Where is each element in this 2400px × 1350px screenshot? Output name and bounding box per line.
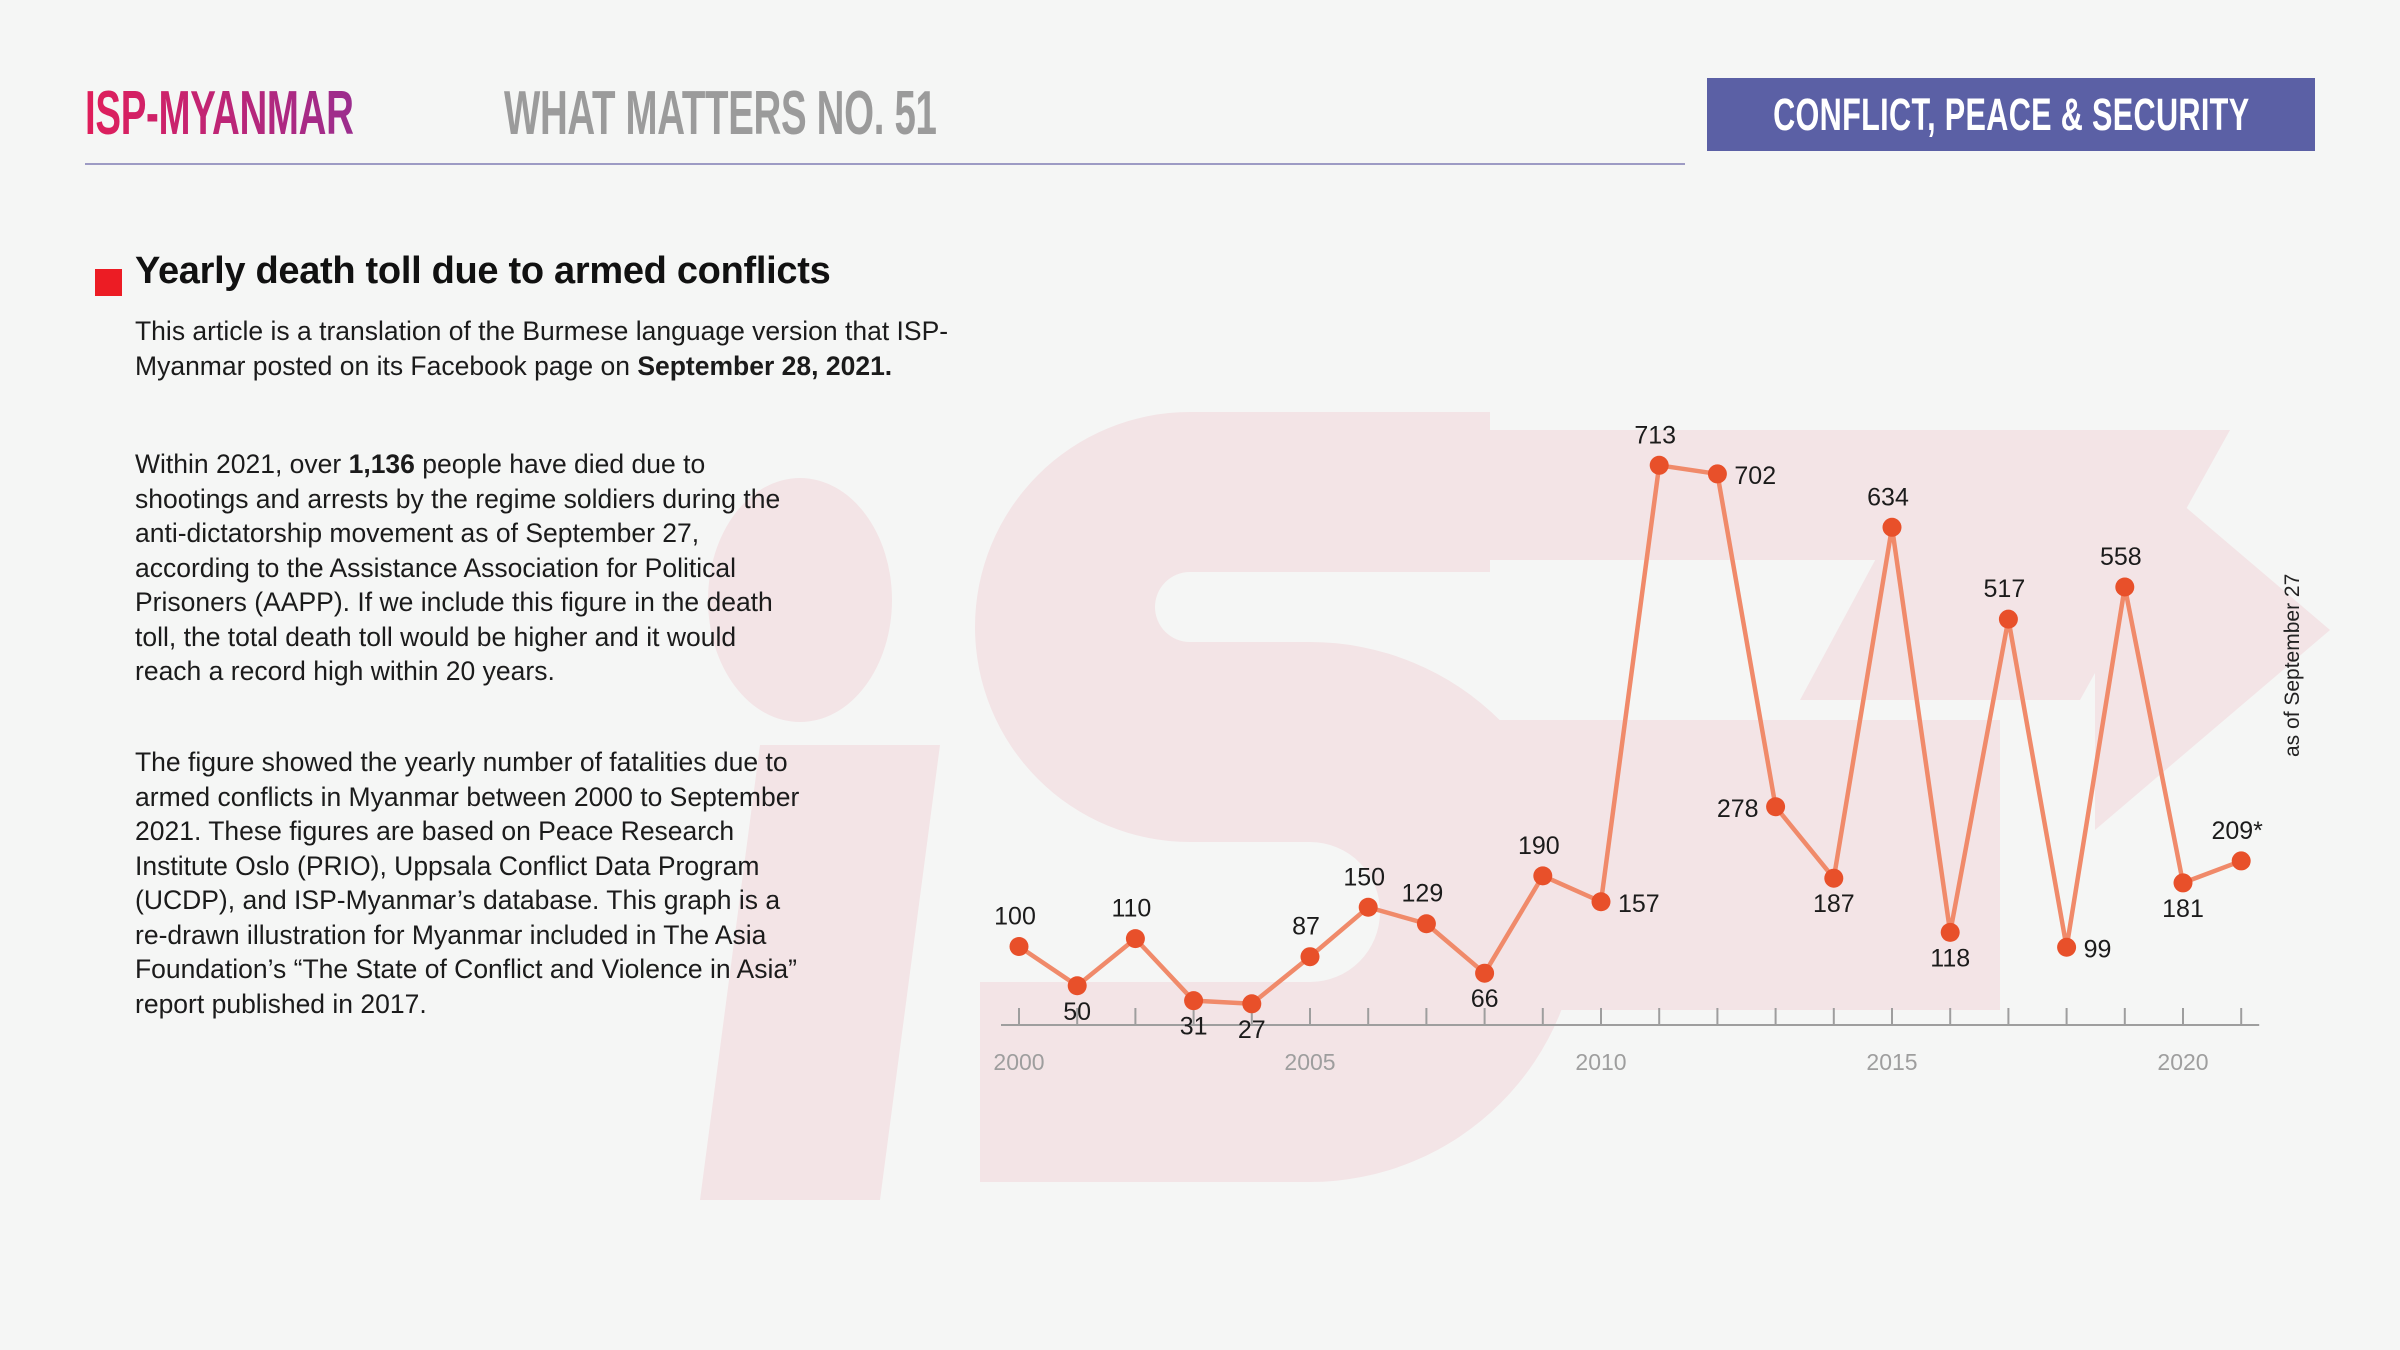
- data-point-2017: [1999, 610, 2018, 629]
- data-point-2006: [1359, 898, 1378, 917]
- data-point-2014: [1824, 869, 1843, 888]
- value-label-2005: 87: [1292, 913, 1320, 941]
- data-point-2018: [2057, 938, 2076, 957]
- series-line: [1019, 465, 2241, 1004]
- data-point-2015: [1883, 518, 1902, 537]
- value-label-2001: 50: [1063, 998, 1091, 1026]
- value-label-2008: 66: [1471, 985, 1499, 1013]
- data-point-2002: [1126, 929, 1145, 948]
- data-point-2013: [1766, 797, 1785, 816]
- death-toll-line-chart: 20002005201020152020 1005011031278715012…: [0, 0, 2400, 1350]
- as-of-annotation: as of September 27: [2281, 574, 2305, 757]
- x-tick-2015: 2015: [1866, 1049, 1917, 1075]
- value-label-2014: 187: [1813, 890, 1855, 918]
- value-label-2000: 100: [994, 903, 1036, 931]
- x-tick-2005: 2005: [1284, 1049, 1335, 1075]
- data-point-2021: [2232, 851, 2251, 870]
- data-point-2000: [1010, 937, 1029, 956]
- data-point-2007: [1417, 914, 1436, 933]
- data-point-2005: [1301, 947, 1320, 966]
- value-label-2017: 517: [1984, 575, 2026, 603]
- value-label-2013: 278: [1717, 795, 1759, 823]
- value-label-2019: 558: [2100, 543, 2142, 571]
- data-point-2003: [1184, 991, 1203, 1010]
- value-label-2012: 702: [1734, 462, 1776, 490]
- infographic-page: ISP-MYANMARWHAT MATTERS NO. 51 CONFLICT,…: [0, 0, 2400, 1350]
- value-label-2010: 157: [1618, 890, 1660, 918]
- data-point-2009: [1533, 866, 1552, 885]
- data-point-2011: [1650, 456, 1669, 475]
- value-label-2015: 634: [1867, 483, 1909, 511]
- data-point-2001: [1068, 976, 1087, 995]
- value-label-2021: 209*: [2211, 817, 2263, 845]
- data-point-2012: [1708, 464, 1727, 483]
- data-point-2008: [1475, 964, 1494, 983]
- x-tick-2000: 2000: [993, 1049, 1044, 1075]
- value-label-2018: 99: [2084, 935, 2112, 963]
- value-label-2007: 129: [1402, 880, 1444, 908]
- value-label-2020: 181: [2162, 895, 2204, 923]
- value-label-2016: 118: [1930, 944, 1970, 972]
- data-point-2020: [2174, 873, 2193, 892]
- value-label-2003: 31: [1180, 1013, 1208, 1041]
- data-point-2004: [1242, 994, 1261, 1013]
- data-point-2019: [2115, 577, 2134, 596]
- value-label-2002: 110: [1111, 895, 1151, 923]
- value-label-2006: 150: [1343, 863, 1385, 891]
- value-label-2004: 27: [1238, 1016, 1266, 1044]
- x-tick-2010: 2010: [1575, 1049, 1626, 1075]
- data-point-2010: [1592, 892, 1611, 911]
- data-point-2016: [1941, 923, 1960, 942]
- value-label-2011: 713: [1634, 421, 1676, 449]
- x-tick-2020: 2020: [2157, 1049, 2208, 1075]
- x-axis-tick-labels: 20002005201020152020: [993, 1049, 2208, 1075]
- value-label-2009: 190: [1518, 832, 1560, 860]
